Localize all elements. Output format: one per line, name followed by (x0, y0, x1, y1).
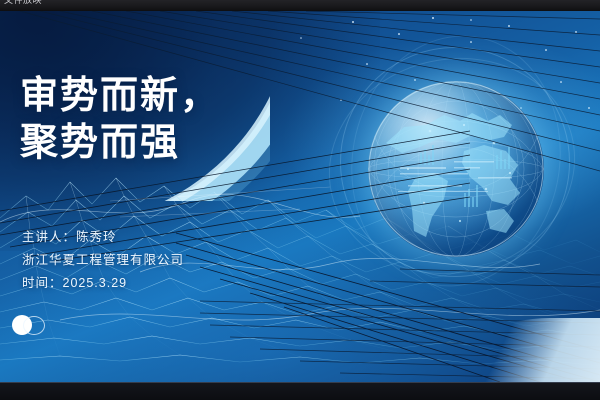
slide-title-line-1: 审势而新， (20, 75, 220, 117)
slide-title: 审势而新， 聚势而强 (20, 73, 350, 167)
digital-globe (330, 43, 580, 293)
globe-sphere (368, 81, 544, 257)
globe-continents (368, 81, 544, 257)
presentation-bottom-bar[interactable] (0, 382, 600, 400)
slide-canvas[interactable]: 审势而新， 聚势而强 主讲人：陈秀玲 浙江华夏工程管理有限公司 时间：2025.… (0, 11, 600, 382)
presentation-window: 文件放映 (0, 0, 600, 400)
presenter-line: 主讲人：陈秀玲 (22, 226, 352, 249)
presentation-top-bar[interactable]: 文件放映 (0, 0, 600, 11)
company-line: 浙江华夏工程管理有限公司 (22, 249, 352, 272)
laser-pointer-dot[interactable] (12, 315, 46, 335)
slide-subtitle-block: 主讲人：陈秀玲 浙江华夏工程管理有限公司 时间：2025.3.29 (22, 226, 352, 295)
top-bar-label: 文件放映 (4, 0, 42, 6)
slide-title-line-2: 聚势而强 (20, 120, 350, 167)
date-line: 时间：2025.3.29 (22, 272, 352, 295)
pointer-dot-ring (23, 316, 45, 335)
